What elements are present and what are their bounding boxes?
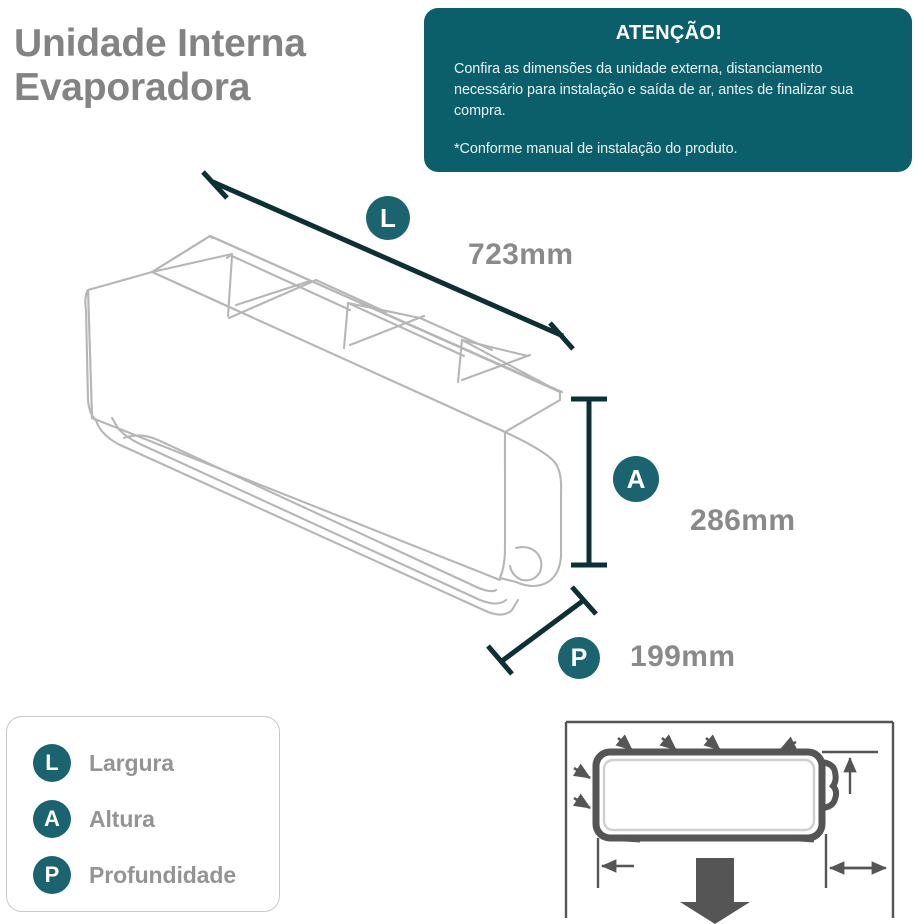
legend-label-largura: Largura: [89, 750, 174, 777]
legend-item-largura: L Largura: [33, 735, 279, 791]
width-dimension-cap-left: [203, 172, 227, 198]
legend-item-profundidade: P Profundidade: [33, 847, 279, 903]
page-title-line-2: Evaporadora: [14, 66, 414, 110]
side-clearance-dimension: [826, 834, 886, 888]
width-dimension-cap-right: [550, 323, 573, 349]
left-clearance-dimension: [598, 838, 634, 888]
depth-dimension-cap-lower: [488, 646, 512, 674]
attention-notice-body: Confira as dimensões da unidade externa,…: [454, 59, 884, 122]
legend-badge-l: L: [33, 744, 71, 782]
depth-value: 199mm: [630, 640, 735, 674]
height-badge: A: [613, 456, 659, 502]
legend-label-altura: Altura: [89, 806, 155, 833]
top-clearance-dimension: [822, 752, 878, 794]
legend-label-profundidade: Profundidade: [89, 862, 236, 889]
depth-badge: P: [558, 637, 600, 679]
airflow-down-arrow: [680, 858, 750, 924]
unit-top-view: [596, 752, 836, 840]
legend-badge-a: A: [33, 800, 71, 838]
width-badge: L: [366, 196, 410, 240]
left-intake-arrows: [574, 768, 590, 808]
legend-item-altura: A Altura: [33, 791, 279, 847]
installation-clearance-diagram: [548, 706, 908, 924]
attention-notice-title: ATENÇÃO!: [454, 22, 884, 45]
width-value: 723mm: [468, 238, 573, 272]
legend-badge-p: P: [33, 856, 71, 894]
page-title: Unidade Interna Evaporadora: [14, 22, 414, 110]
attention-notice-footnote: *Conforme manual de instalação do produt…: [454, 139, 884, 160]
attention-notice: ATENÇÃO! Confira as dimensões da unidade…: [424, 8, 912, 172]
height-value: 286mm: [690, 504, 795, 538]
page-title-line-1: Unidade Interna: [14, 22, 414, 66]
dimension-legend: L Largura A Altura P Profundidade: [6, 716, 280, 912]
top-intake-arrows: [618, 738, 796, 750]
depth-dimension-cap-upper: [572, 587, 596, 614]
